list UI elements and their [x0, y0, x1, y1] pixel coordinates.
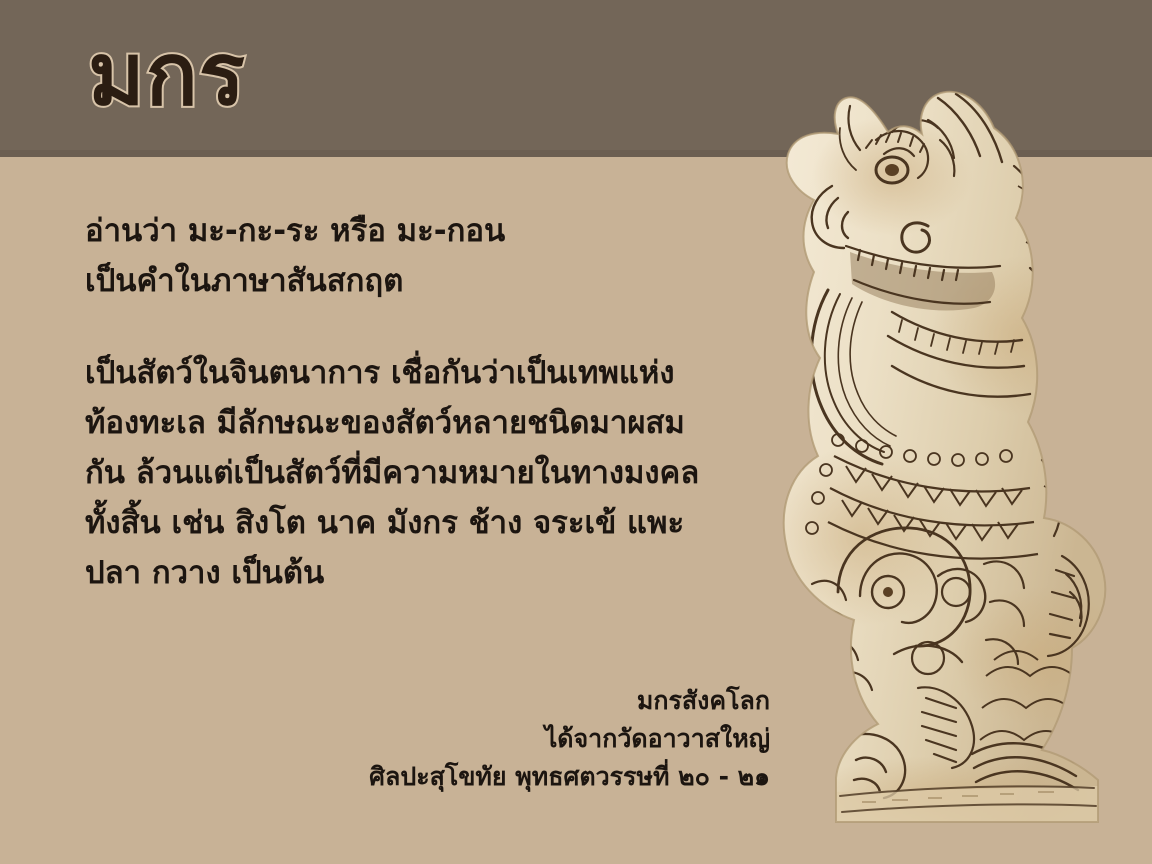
- paragraph-pronunciation: อ่านว่า มะ-กะ-ระ หรือ มะ-กอน เป็นคำในภาษ…: [85, 206, 745, 306]
- sculpture-body: [762, 92, 1132, 836]
- caption-line-title: มกรสังคโลก: [340, 682, 770, 720]
- page-title: มกร: [88, 28, 246, 123]
- caption-line-period: ศิลปะสุโขทัย พุทธศตวรรษที่ ๒๐ - ๒๑: [340, 758, 770, 796]
- makara-sculpture-image: [742, 36, 1152, 836]
- body-text-column: อ่านว่า มะ-กะ-ระ หรือ มะ-กอน เป็นคำในภาษ…: [85, 206, 745, 598]
- caption-line-origin: ได้จากวัดอาวาสใหญ่: [340, 720, 770, 758]
- paragraph-description: เป็นสัตว์ในจินตนาการ เชื่อกันว่าเป็นเทพแ…: [85, 348, 745, 598]
- image-caption: มกรสังคโลก ได้จากวัดอาวาสใหญ่ ศิลปะสุโขท…: [340, 682, 770, 796]
- slide-canvas: มกร อ่านว่า มะ-กะ-ระ หรือ มะ-กอน เป็นคำใ…: [0, 0, 1152, 864]
